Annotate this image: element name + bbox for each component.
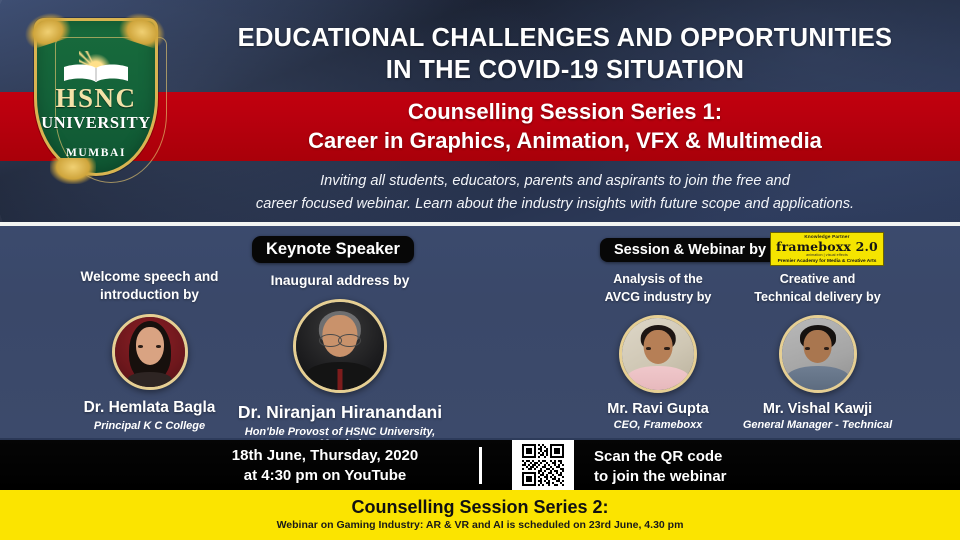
section-divider [0, 222, 960, 226]
speaker-photo [782, 318, 854, 390]
scan-instruction-line-1: Scan the QR code [594, 447, 727, 467]
session-webinar-badge: Session & Webinar by [600, 238, 780, 262]
speaker-card-hemlata-bagla: Welcome speech and introduction by Dr. H… [62, 268, 237, 432]
webinar-poster: EDUCATIONAL CHALLENGES AND OPPORTUNITIES… [0, 0, 960, 540]
hsnc-university-logo: HSNC UNIVERSITY MUMBAI [22, 8, 170, 198]
speaker-role: Creative and Technical delivery by [735, 270, 900, 306]
invitation-note: Inviting all students, educators, parent… [160, 170, 950, 216]
speaker-name: Mr. Ravi Gupta [588, 401, 728, 417]
event-time: at 4:30 pm on YouTube [180, 466, 470, 486]
scan-instruction-line-2: to join the webinar [594, 467, 727, 487]
partner-wordmark: frameboxx 2.0 [776, 240, 878, 253]
page-title-line-2: IN THE COVID-19 SITUATION [200, 54, 930, 86]
speaker-role: Inaugural address by [230, 272, 450, 290]
speaker-role-line-1: Analysis of the [588, 270, 728, 288]
avatar [112, 314, 188, 390]
speaker-role-line-2: AVCG industry by [588, 288, 728, 306]
speaker-photo [115, 317, 185, 387]
qr-code-icon[interactable] [512, 440, 574, 490]
frameboxx-partner-logo: Knowledge Partner frameboxx 2.0 animatio… [770, 232, 884, 266]
speaker-name: Mr. Vishal Kawji [735, 401, 900, 417]
speaker-role-line-2: Technical delivery by [735, 288, 900, 306]
session-subtitle-line-1: Counselling Session Series 1: [200, 97, 930, 126]
speaker-card-ravi-gupta: Analysis of the AVCG industry by Mr. Rav… [588, 270, 728, 431]
speaker-title: Principal K C College [62, 420, 237, 432]
bar-divider [479, 447, 482, 484]
event-date: 18th June, Thursday, 2020 [180, 446, 470, 466]
crest-name: HSNC [37, 83, 155, 113]
speaker-name: Dr. Niranjan Hiranandani [230, 402, 450, 423]
speaker-role-line-1: Welcome speech and [62, 268, 237, 286]
avatar [779, 315, 857, 393]
speaker-card-niranjan-hiranandani: Inaugural address by Dr. Niranjan Hirana… [230, 272, 450, 450]
speaker-role-line-1: Creative and [735, 270, 900, 288]
crest-university: UNIVERSITY [37, 113, 155, 133]
invitation-note-line-2: career focused webinar. Learn about the … [160, 193, 950, 216]
speaker-name: Dr. Hemlata Bagla [62, 399, 237, 417]
session-subtitle-line-2: Career in Graphics, Animation, VFX & Mul… [200, 126, 930, 155]
speaker-role-line-2: introduction by [62, 286, 237, 304]
page-title-line-1: EDUCATIONAL CHALLENGES AND OPPORTUNITIES [200, 22, 930, 54]
avatar [619, 315, 697, 393]
speaker-title: General Manager - Technical [735, 419, 900, 431]
speaker-role: Analysis of the AVCG industry by [588, 270, 728, 306]
event-datetime: 18th June, Thursday, 2020 at 4:30 pm on … [180, 446, 470, 486]
speaker-photo [622, 318, 694, 390]
page-title: EDUCATIONAL CHALLENGES AND OPPORTUNITIES… [200, 22, 930, 86]
keynote-speaker-badge: Keynote Speaker [252, 236, 414, 263]
avatar [293, 299, 387, 393]
speaker-role: Welcome speech and introduction by [62, 268, 237, 304]
scan-instruction: Scan the QR code to join the webinar [594, 447, 727, 487]
crest-flourish-bottom [50, 158, 96, 184]
series-2-heading: Counselling Session Series 2: [0, 496, 960, 518]
invitation-note-line-1: Inviting all students, educators, parent… [160, 170, 950, 193]
partner-subline: Premier Academy for Media & Creative Art… [778, 258, 877, 265]
session-subtitle: Counselling Session Series 1: Career in … [200, 97, 930, 155]
speaker-card-vishal-kawji: Creative and Technical delivery by Mr. V… [735, 270, 900, 431]
speaker-role-line-1: Inaugural address by [230, 272, 450, 290]
series-2-note: Webinar on Gaming Industry: AR & VR and … [0, 518, 960, 532]
speaker-photo [296, 302, 384, 390]
speaker-title: CEO, Frameboxx [588, 419, 728, 431]
